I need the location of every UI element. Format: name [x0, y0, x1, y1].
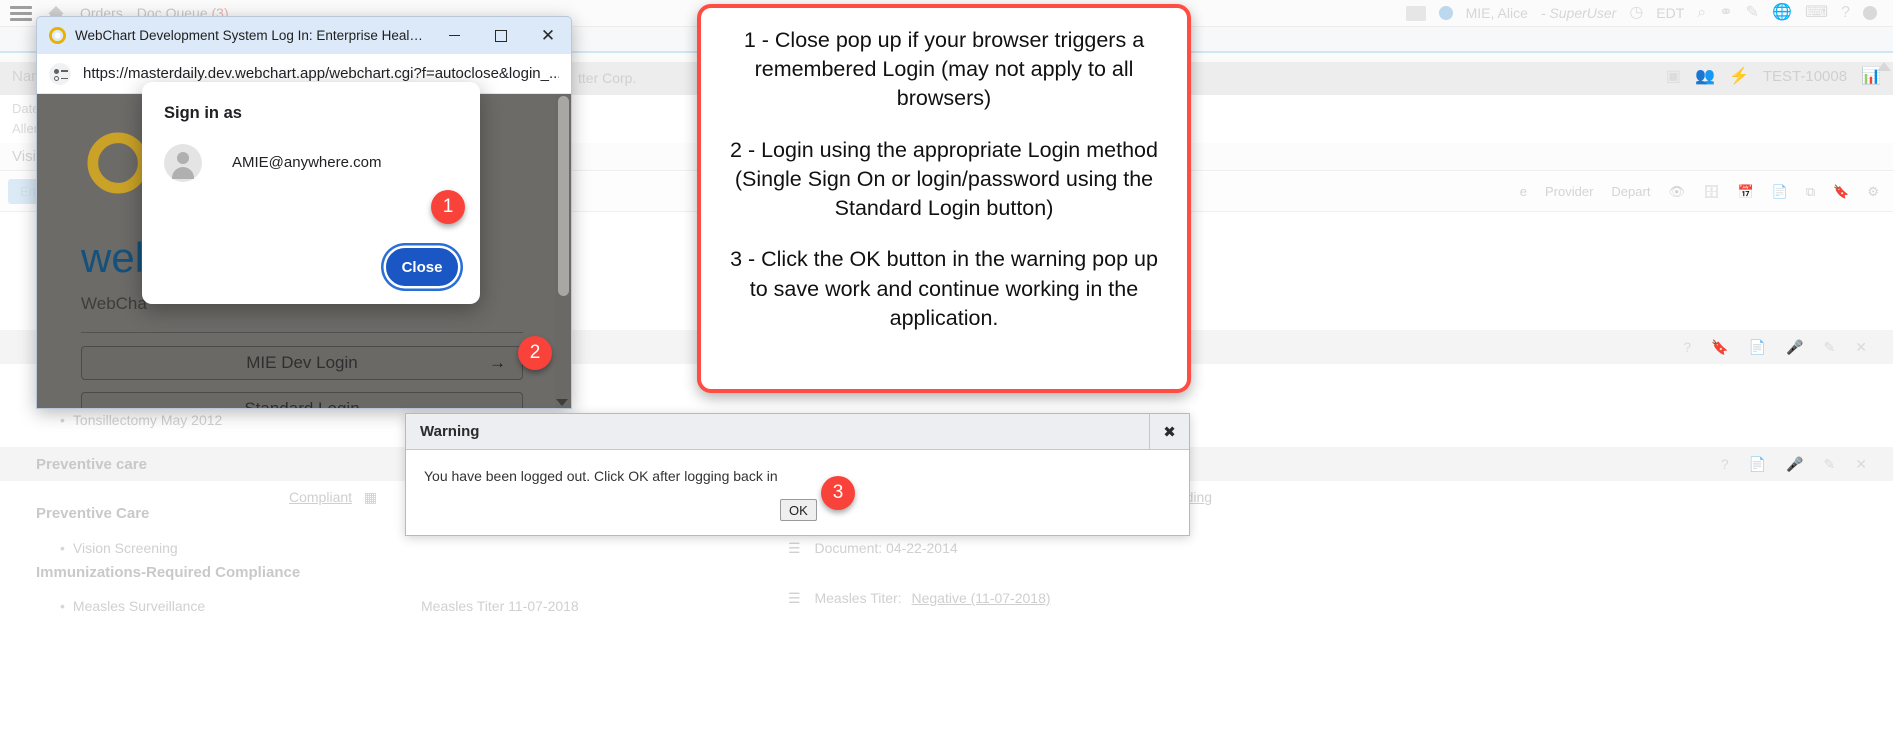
document-entry-row: ☰ Document: 04-22-2014	[788, 540, 958, 557]
top-toolbar-right: MIE, Alice - SuperUser ◷ EDT ⌕ ⚭ ✎ 🌐 ⌨ ?	[1406, 5, 1883, 21]
document-entry-label: Document: 04-22-2014	[814, 540, 957, 556]
browser-window-title: WebChart Development System Log In: Ente…	[75, 28, 426, 43]
eye-icon[interactable]: 👁	[1668, 184, 1685, 200]
note-icon[interactable]: 📄	[1749, 456, 1766, 473]
scroll-down-arrow-icon[interactable]	[556, 399, 568, 406]
compliant-link-label: Compliant	[289, 489, 352, 505]
step-marker-2: 2	[518, 336, 552, 370]
user-avatar-icon	[164, 144, 202, 182]
arrow-right-icon: →	[489, 399, 506, 409]
instruction-callout: 1 - Close pop up if your browser trigger…	[697, 4, 1191, 393]
surgery-bullet: Tonsillectomy May 2012	[60, 412, 222, 428]
list-icon: ☰	[788, 540, 801, 556]
standard-login-button[interactable]: Standard Login →	[81, 392, 523, 409]
grid-icon[interactable]: ▦	[364, 489, 377, 505]
keyboard-icon[interactable]: ⌨	[1805, 5, 1828, 21]
current-user-name: MIE, Alice	[1466, 5, 1528, 21]
avatar	[1439, 6, 1453, 20]
clock-icon: ◷	[1629, 5, 1643, 21]
warning-ok-button[interactable]: OK	[780, 499, 817, 521]
screenshot-root: Orders Doc Queue (3) MIE, Alice - SuperU…	[0, 0, 1893, 745]
note-icon[interactable]: 📄	[1749, 339, 1766, 356]
current-user-role: - SuperUser	[1541, 5, 1616, 21]
warning-close-icon[interactable]: ✖	[1149, 414, 1189, 450]
minimize-button[interactable]	[435, 19, 473, 53]
sign-in-email[interactable]: AMIE@anywhere.com	[232, 154, 381, 171]
sign-in-title: Sign in as	[164, 104, 242, 123]
add-user-icon[interactable]: 👥	[1695, 69, 1715, 85]
callout-step-3: 3 - Click the OK button in the warning p…	[721, 245, 1167, 333]
warning-dialog-header: Warning ✖	[406, 414, 1189, 450]
welcome-subtitle: WebCha	[81, 294, 147, 314]
preventive-care-heading: Preventive Care	[36, 505, 149, 522]
section-title-preventive-care: Preventive care	[36, 456, 147, 473]
step-marker-1: 1	[431, 190, 465, 224]
measles-titer-result-value[interactable]: Negative (11-07-2018)	[911, 590, 1050, 606]
viewport-scrollbar[interactable]	[555, 94, 571, 409]
section-band-icons: ? 🔖 📄 🎤 ✎ ✕	[1683, 339, 1893, 356]
maximize-button[interactable]	[482, 19, 520, 53]
encounter-col-provider: Provider	[1545, 184, 1593, 199]
webchart-gear-icon	[49, 27, 66, 44]
help-icon[interactable]: ?	[1683, 339, 1691, 356]
patient-banner-right: ▣ 👥 ⚡ TEST-10008 📊	[1666, 68, 1881, 85]
measles-surveillance-row: Measles Surveillance	[60, 598, 205, 614]
video-icon[interactable]	[1406, 6, 1426, 21]
video-camera-icon[interactable]: ▣	[1666, 69, 1681, 85]
copy-icon[interactable]: ⧉	[1806, 184, 1815, 200]
bookmark-icon[interactable]: 🔖	[1833, 184, 1849, 200]
warning-message: You have been logged out. Click OK after…	[424, 468, 778, 484]
mie-dev-login-button[interactable]: MIE Dev Login →	[81, 346, 523, 380]
close-icon[interactable]: ✕	[1855, 339, 1867, 356]
patient-corp-label: tter Corp.	[578, 70, 636, 86]
arrow-right-icon: →	[489, 353, 506, 373]
step-marker-3: 3	[821, 476, 855, 510]
bookmark-icon[interactable]: 🔖	[1711, 339, 1728, 356]
mic-icon[interactable]: 🎤	[1786, 339, 1803, 356]
sign-in-close-button[interactable]: Close	[386, 248, 458, 286]
measles-titer-result-row: ☰ Measles Titer: Negative (11-07-2018)	[788, 590, 1051, 607]
close-window-button[interactable]: ✕	[529, 19, 567, 53]
immunizations-heading: Immunizations-Required Compliance	[36, 564, 300, 581]
note-icon[interactable]: 📄	[1772, 184, 1788, 200]
encounter-col-e: e	[1520, 184, 1527, 199]
edit-icon[interactable]: ✎	[1824, 339, 1836, 356]
address-bar-url[interactable]: https://masterdaily.dev.webchart.app/web…	[83, 65, 559, 82]
measles-titer-result-label: Measles Titer:	[814, 590, 901, 606]
mic-icon[interactable]: 🎤	[1786, 456, 1803, 473]
close-icon[interactable]: ✕	[1855, 456, 1867, 473]
link-icon[interactable]: ⚭	[1719, 5, 1732, 21]
encounter-col-depart: Depart	[1611, 184, 1650, 199]
bolt-icon[interactable]: ⚡	[1729, 69, 1749, 85]
standard-login-label: Standard Login	[244, 399, 359, 409]
callout-step-2: 2 - Login using the appropriate Login me…	[721, 136, 1167, 224]
encounter-toolbar-right: e Provider Depart 👁 🗄 📅 📄 ⧉ 🔖 ⚙	[1520, 184, 1893, 200]
warning-dialog[interactable]: Warning ✖ You have been logged out. Clic…	[405, 413, 1190, 536]
divider	[81, 332, 523, 333]
edit-icon[interactable]: ✎	[1824, 456, 1836, 473]
help-icon[interactable]: ?	[1721, 456, 1729, 473]
enterprise-health-logo-icon	[87, 132, 149, 194]
help-icon[interactable]: ?	[1841, 5, 1850, 21]
archive-icon[interactable]: 🗄	[1703, 184, 1720, 200]
callout-step-1: 1 - Close pop up if your browser trigger…	[721, 26, 1167, 114]
timezone-label: EDT	[1656, 5, 1684, 21]
warning-dialog-title: Warning	[420, 423, 479, 440]
search-icon[interactable]: ⌕	[1697, 5, 1706, 21]
measles-titer-date: Measles Titer 11-07-2018	[421, 598, 579, 614]
section-band-icons-2: ? 📄 🎤 ✎ ✕	[1721, 456, 1893, 473]
patient-test-id: TEST-10008	[1763, 68, 1847, 85]
wand-icon[interactable]: ✎	[1746, 5, 1759, 21]
compliant-link[interactable]: Compliant ▦	[289, 489, 377, 506]
site-settings-icon[interactable]	[49, 63, 71, 85]
scrollbar-thumb[interactable]	[558, 96, 569, 296]
sign-in-popup[interactable]: Sign in as AMIE@anywhere.com Close	[142, 82, 480, 304]
calendar-icon[interactable]: 📅	[1737, 184, 1753, 200]
hamburger-icon[interactable]	[10, 6, 32, 21]
scroll-up-arrow-icon[interactable]	[1877, 62, 1891, 71]
list-icon: ☰	[788, 590, 801, 606]
account-avatar-icon[interactable]	[1863, 6, 1877, 20]
settings-icon[interactable]: ⚙	[1867, 184, 1879, 200]
browser-title-bar[interactable]: WebChart Development System Log In: Ente…	[37, 17, 571, 54]
globe-icon[interactable]: 🌐	[1772, 5, 1792, 21]
warning-dialog-body: You have been logged out. Click OK after…	[406, 450, 1189, 536]
vision-screening-row: Vision Screening	[60, 540, 178, 556]
mie-dev-login-label: MIE Dev Login	[246, 353, 358, 373]
